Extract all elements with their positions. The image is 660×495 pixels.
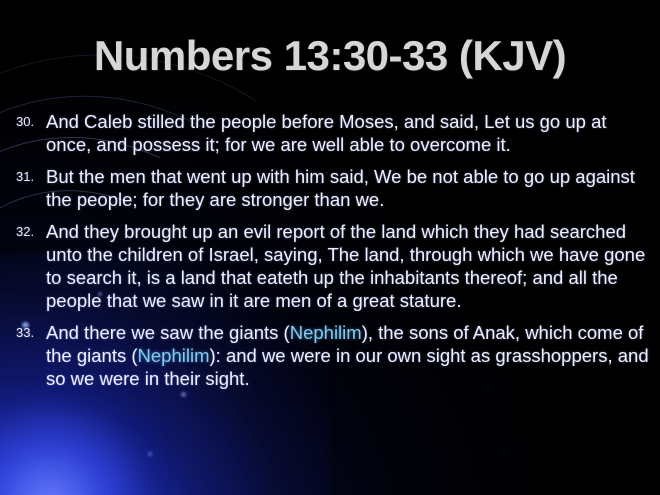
verse-paragraph: 32. And they brought up an evil report o… (8, 220, 652, 312)
verse-paragraph: 33. And there we saw the giants (Nephili… (8, 321, 652, 390)
verse-list: 30. And Caleb stilled the people before … (8, 110, 652, 399)
verse-number: 30. (16, 115, 34, 128)
verse-paragraph: 30. And Caleb stilled the people before … (8, 110, 652, 156)
slide-title: Numbers 13:30-33 (KJV) (0, 32, 660, 80)
verse-text-segment: But the men that went up with him said, … (46, 166, 635, 210)
light-spark-icon (148, 452, 152, 456)
verse-text-segment: And they brought up an evil report of th… (46, 221, 645, 311)
verse-text: And there we saw the giants (Nephilim), … (46, 321, 652, 390)
verse-number: 31. (16, 170, 34, 183)
presentation-slide: Numbers 13:30-33 (KJV) 30. And Caleb sti… (0, 0, 660, 495)
highlighted-term: Nephilim (138, 345, 210, 366)
verse-text-segment: And there we saw the giants ( (46, 322, 290, 343)
verse-text: And they brought up an evil report of th… (46, 220, 652, 312)
verse-number: 32. (16, 225, 34, 238)
verse-number: 33. (16, 326, 34, 339)
verse-paragraph: 31. But the men that went up with him sa… (8, 165, 652, 211)
background-glow-core (0, 385, 160, 495)
highlighted-term: Nephilim (290, 322, 362, 343)
verse-text: And Caleb stilled the people before Mose… (46, 110, 652, 156)
verse-text: But the men that went up with him said, … (46, 165, 652, 211)
verse-text-segment: And Caleb stilled the people before Mose… (46, 111, 607, 155)
